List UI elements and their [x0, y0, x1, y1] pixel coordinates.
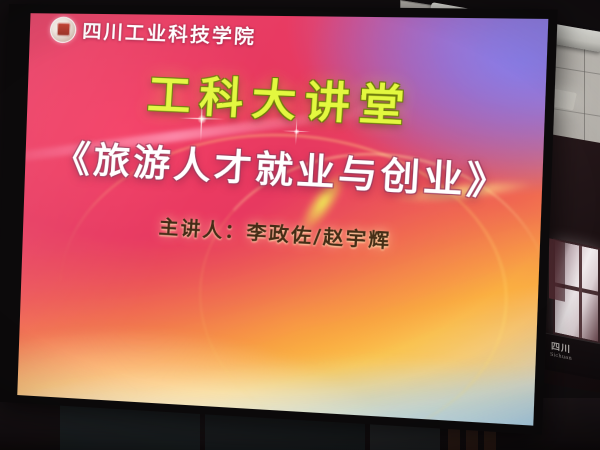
window-curtain [549, 238, 565, 301]
photograph-of-lecture-hall: projector screen 四川 Sichuan [0, 0, 600, 450]
slide-title: 工科大讲堂 [26, 55, 547, 141]
school-emblem-icon [49, 16, 77, 43]
emblem-inner-shape [56, 23, 70, 37]
presentation-slide: 四川工业科技学院 工科大讲堂 《旅游人才就业与创业》 主讲人：李政佐/赵宇辉 [17, 13, 548, 425]
slide-title-text: 工科大讲堂 [146, 60, 416, 135]
school-name-text: 四川工业科技学院 [82, 16, 257, 49]
window-post [579, 246, 582, 339]
projection-screen: 四川工业科技学院 工科大讲堂 《旅游人才就业与创业》 主讲人：李政佐/赵宇辉 [0, 4, 558, 435]
slide-header: 四川工业科技学院 [49, 15, 257, 50]
